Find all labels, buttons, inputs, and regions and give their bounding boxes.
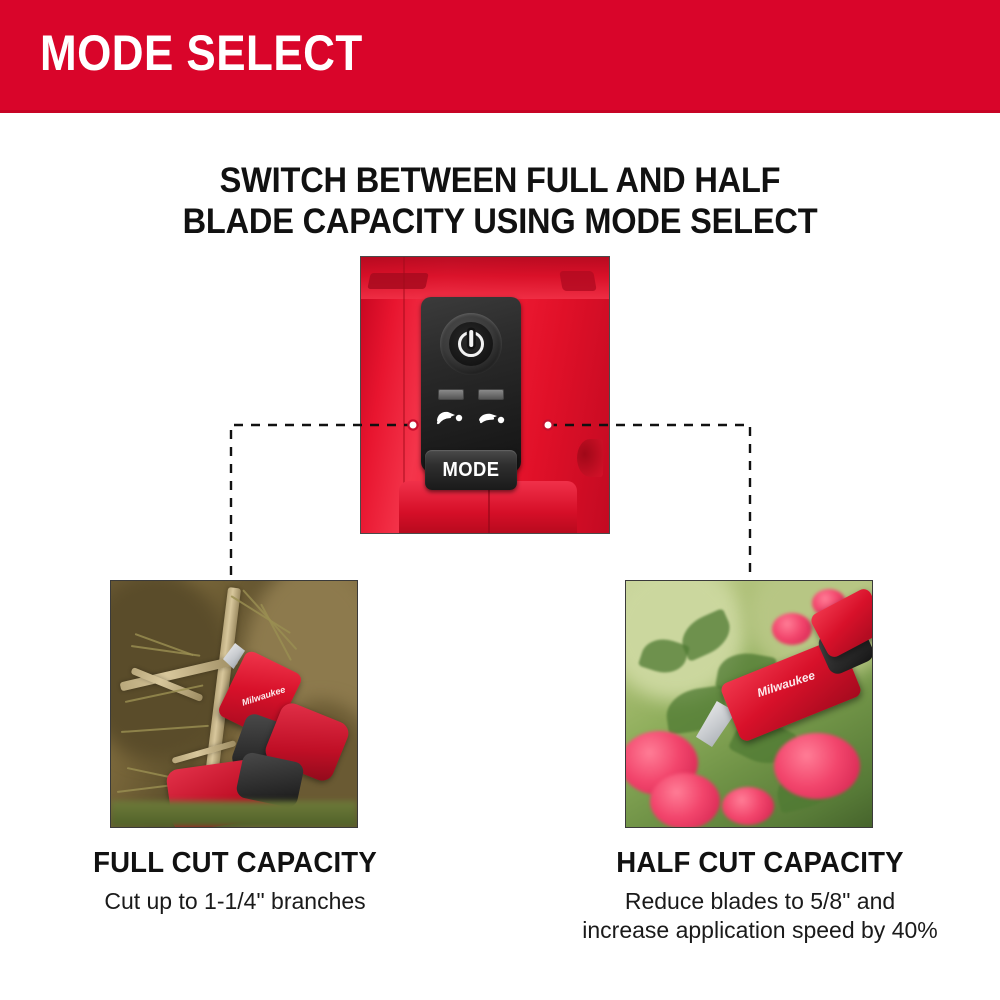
tool-housing-notch-left <box>367 273 428 289</box>
caption-subtitle-line-2: increase application speed by 40% <box>582 917 937 943</box>
rose-flower <box>650 773 720 828</box>
grass-strip <box>111 801 357 827</box>
half-cut-capacity-photo: Milwaukee <box>625 580 873 828</box>
caption-full-cut: FULL CUT CAPACITY Cut up to 1-1/4" branc… <box>10 848 460 916</box>
caption-subtitle: Reduce blades to 5/8" and increase appli… <box>530 887 990 945</box>
blade-icon-row <box>421 407 521 427</box>
full-capacity-led <box>438 389 464 400</box>
mode-button[interactable]: MODE <box>425 450 517 490</box>
control-pad: MODE <box>421 297 521 472</box>
tool-control-panel-photo: MODE <box>360 256 610 534</box>
caption-title: HALF CUT CAPACITY <box>542 848 979 880</box>
page-title: MODE SELECT <box>40 28 363 78</box>
headline-line-2: BLADE CAPACITY USING MODE SELECT <box>35 201 965 242</box>
caption-subtitle-line-1: Reduce blades to 5/8" and <box>625 888 895 914</box>
caption-subtitle: Cut up to 1-1/4" branches <box>10 887 460 916</box>
full-blade-icon <box>435 407 465 427</box>
power-icon <box>458 331 484 357</box>
infographic-page: MODE SELECT SWITCH BETWEEN FULL AND HALF… <box>0 0 1000 1000</box>
tool-housing-dimple <box>577 439 603 477</box>
tool-housing-notch-right <box>559 271 597 291</box>
headline: SWITCH BETWEEN FULL AND HALF BLADE CAPAC… <box>0 160 1000 243</box>
full-cut-capacity-photo: Milwaukee <box>110 580 358 828</box>
mode-button-label: MODE <box>442 459 499 482</box>
headline-line-1: SWITCH BETWEEN FULL AND HALF <box>35 160 965 201</box>
power-button[interactable] <box>440 313 502 375</box>
power-button-inner <box>449 322 493 366</box>
half-blade-icon <box>477 407 507 427</box>
header-banner: MODE SELECT <box>0 0 1000 113</box>
caption-half-cut: HALF CUT CAPACITY Reduce blades to 5/8" … <box>530 848 990 944</box>
rose-flower <box>774 733 860 799</box>
tool-foot-seam <box>488 485 490 533</box>
rose-flower <box>772 613 812 645</box>
caption-title: FULL CUT CAPACITY <box>21 848 449 880</box>
half-capacity-led <box>478 389 504 400</box>
rose-flower <box>722 787 774 825</box>
led-indicator-row <box>421 389 521 400</box>
